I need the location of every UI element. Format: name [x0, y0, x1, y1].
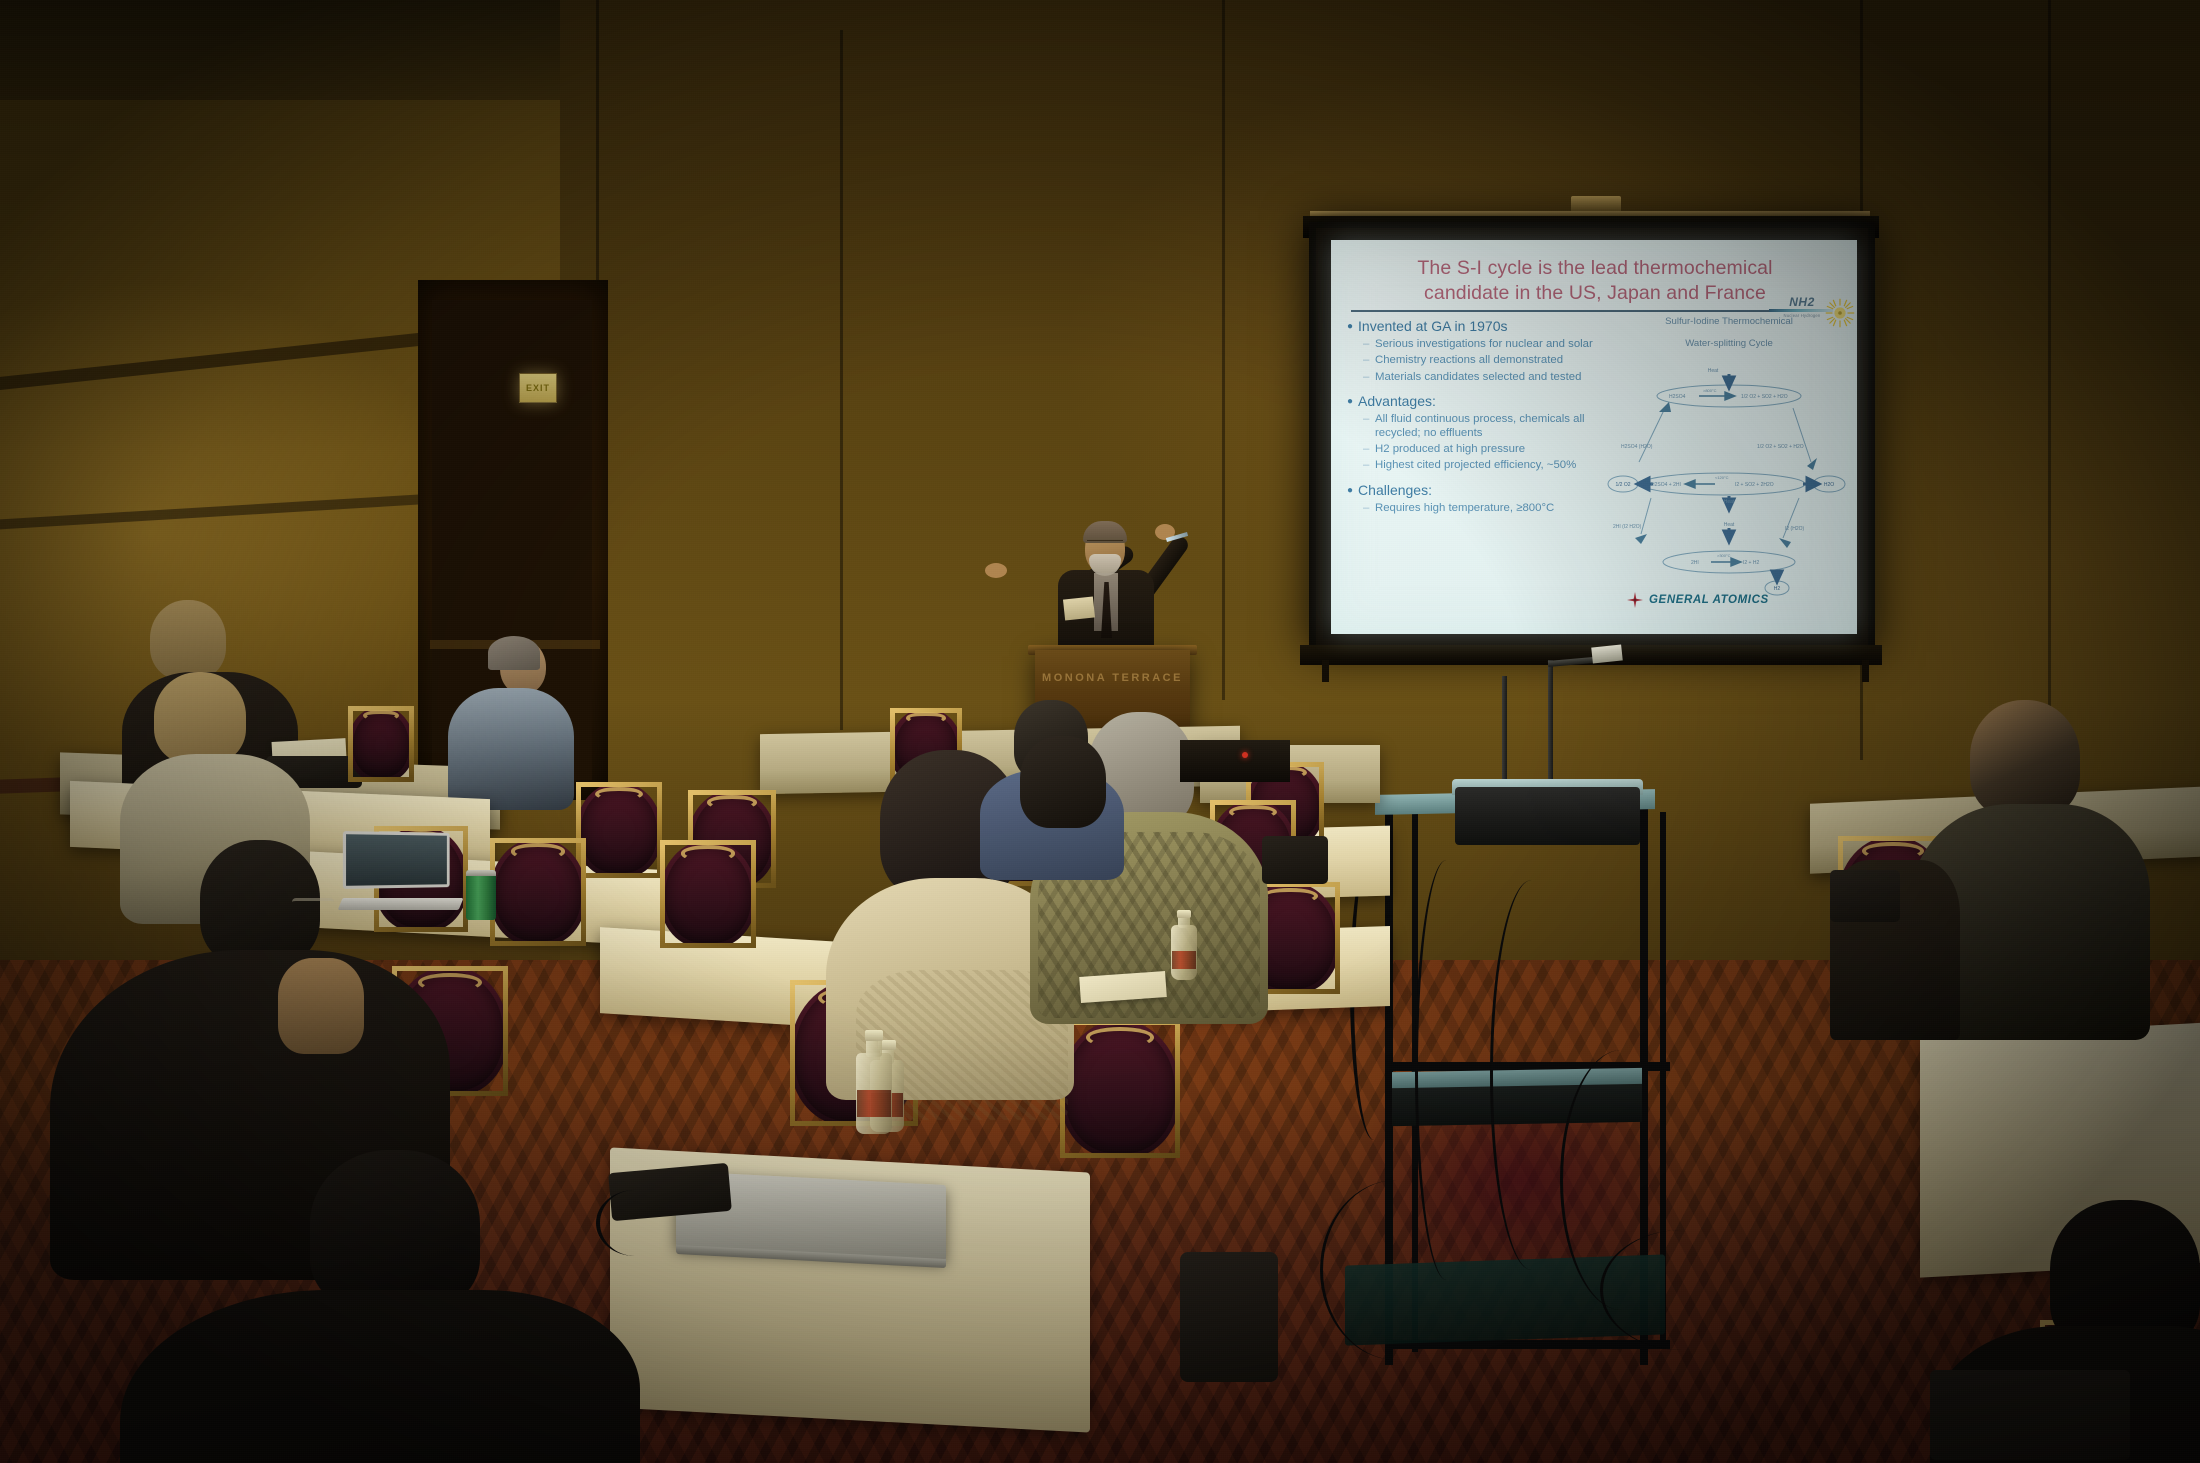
- svg-text:H2SO4 + 2HI: H2SO4 + 2HI: [1651, 482, 1681, 488]
- water-bottle[interactable]: [1171, 910, 1197, 980]
- bullet-dot-icon: ●: [1347, 485, 1353, 496]
- bottle-cap: [1177, 910, 1191, 918]
- audience-head: [1970, 700, 2080, 818]
- chair-handle-slot: [595, 787, 643, 801]
- general-atomics-logo: GENERAL ATOMICS: [1627, 592, 1827, 608]
- title-divider: [1351, 310, 1771, 312]
- slide-title-line-1: The S-I cycle is the lead thermochemical: [1349, 256, 1841, 281]
- svg-text:H2O: H2O: [1824, 482, 1834, 488]
- chair-handle-slot: [906, 712, 946, 724]
- adapter-cable: [596, 1190, 674, 1256]
- signal-cable: [1490, 880, 1573, 1270]
- wall-panel-seam: [840, 30, 843, 730]
- audience-head: [310, 1150, 480, 1310]
- ga-star-icon: [1627, 592, 1643, 608]
- chair-handle-slot: [1229, 805, 1277, 819]
- chair-handle-slot: [707, 795, 756, 810]
- audience-hand: [278, 958, 364, 1054]
- banquet-chair: [348, 706, 414, 782]
- svg-text:>300°C: >300°C: [1717, 553, 1731, 558]
- bullet-level2: All fluid continuous process, chemicals …: [1363, 413, 1599, 440]
- svg-text:I2 (H2O): I2 (H2O): [1785, 526, 1805, 532]
- nh2-logo-rule: [1769, 309, 1833, 312]
- svg-text:Heat: Heat: [1708, 368, 1719, 374]
- audience-hair: [154, 672, 246, 764]
- equipment-case[interactable]: [1930, 1370, 2130, 1460]
- chair-handle-slot: [681, 845, 735, 861]
- banquet-chair: [576, 782, 662, 878]
- handbag[interactable]: [1180, 1252, 1278, 1382]
- podium-venue-label: MONONA TERRACE: [1035, 672, 1190, 684]
- handbag[interactable]: [1830, 870, 1900, 922]
- audience-hair: [150, 600, 226, 680]
- projector-arm: [1548, 660, 1553, 785]
- svg-text:<120°C: <120°C: [1715, 475, 1729, 480]
- banquet-chair: [1060, 1020, 1180, 1158]
- handbag[interactable]: [1262, 836, 1328, 884]
- diagram-heading-1: Sulfur-Iodine Thermochemical: [1607, 314, 1851, 330]
- svg-text:1/2 O2 + SO2 + H2O: 1/2 O2 + SO2 + H2O: [1741, 394, 1788, 400]
- banquet-chair: [490, 838, 586, 946]
- ga-logo-text: GENERAL ATOMICS: [1649, 594, 1769, 606]
- bullet-dot-icon: ●: [1347, 321, 1353, 332]
- banquet-chair: [660, 840, 756, 948]
- status-led: [1242, 752, 1248, 758]
- svg-text:H2SO4 (H2O): H2SO4 (H2O): [1621, 444, 1653, 450]
- slide-content: The S-I cycle is the lead thermochemical…: [1331, 240, 1857, 634]
- bullet-level2: Chemistry reactions all demonstrated: [1363, 354, 1599, 367]
- slide-title: The S-I cycle is the lead thermochemical…: [1349, 256, 1841, 306]
- svg-text:H2SO4: H2SO4: [1669, 394, 1686, 400]
- bullet-level2: Materials candidates selected and tested: [1363, 371, 1599, 384]
- bullet-level2: Serious investigations for nuclear and s…: [1363, 338, 1599, 351]
- svg-text:1/2 O2 + SO2 + H2O: 1/2 O2 + SO2 + H2O: [1757, 444, 1804, 450]
- projector-arm-secondary: [1502, 676, 1507, 784]
- projector-mirror: [1591, 644, 1623, 663]
- audience-head: [1020, 736, 1106, 828]
- wall-panel-seam: [1222, 0, 1225, 700]
- screen-leg: [1862, 660, 1869, 682]
- diagram-heading-2: Water-splitting Cycle: [1607, 336, 1851, 352]
- bottle-label: [1172, 951, 1196, 969]
- screen-leg: [1322, 660, 1329, 682]
- slide-bullet-list: ●Invented at GA in 1970s Serious investi…: [1347, 316, 1599, 515]
- av-console: [1180, 740, 1290, 782]
- slide-title-line-2: candidate in the US, Japan and France: [1349, 281, 1841, 306]
- chair-handle-slot: [511, 843, 565, 859]
- bullet-level1: ●Invented at GA in 1970s: [1347, 318, 1599, 335]
- overhead-projector: [1455, 787, 1640, 845]
- laptop-screen: [343, 831, 450, 889]
- laptop-open[interactable]: [344, 832, 452, 910]
- exit-sign: EXIT: [519, 373, 557, 403]
- speaker-left-hand: [985, 563, 1007, 578]
- si-cycle-diagram: Sulfur-Iodine Thermochemical Water-split…: [1607, 314, 1851, 624]
- speaker-name-badge: [1063, 596, 1095, 620]
- conference-room-photo: EXIT The S-I cycle is the lead thermoche…: [0, 0, 2200, 1463]
- laptop-keyboard-base: [337, 898, 463, 910]
- floor-cable: [1600, 1230, 1763, 1350]
- soda-can[interactable]: [466, 870, 496, 920]
- bullet-dot-icon: ●: [1347, 396, 1353, 407]
- svg-text:2HI: 2HI: [1691, 560, 1699, 566]
- cycle-flow-svg: Heat Heat Heat H2SO4 1/2 O2 + SO2 + H2O …: [1607, 366, 1851, 596]
- svg-text:1/2 O2: 1/2 O2: [1615, 482, 1630, 488]
- bullet-level2: Highest cited projected efficiency, ~50%: [1363, 459, 1599, 472]
- bullet-level1: ●Challenges:: [1347, 482, 1599, 499]
- chair-handle-slot: [1086, 1027, 1153, 1048]
- svg-text:I2 + SO2 + 2H2O: I2 + SO2 + 2H2O: [1735, 482, 1774, 488]
- chair-handle-slot: [418, 973, 483, 993]
- bullet-level2: Requires high temperature, ≥800°C: [1363, 502, 1599, 515]
- wall-panel-seam: [2048, 0, 2051, 780]
- bullet-level2: H2 produced at high pressure: [1363, 443, 1599, 456]
- eyeglasses: [292, 898, 334, 911]
- svg-text:>800°C: >800°C: [1703, 388, 1717, 393]
- speaker-glasses: [1087, 540, 1123, 548]
- bullet-level1: ●Advantages:: [1347, 393, 1599, 410]
- svg-text:2HI (I2 H2O): 2HI (I2 H2O): [1613, 524, 1642, 530]
- svg-text:I2 + H2: I2 + H2: [1743, 560, 1759, 566]
- audience-hair: [488, 636, 540, 670]
- svg-text:Heat: Heat: [1724, 499, 1735, 505]
- floor-cable: [1320, 1180, 1473, 1360]
- svg-text:Heat: Heat: [1724, 522, 1735, 528]
- audience-torso: [448, 688, 574, 810]
